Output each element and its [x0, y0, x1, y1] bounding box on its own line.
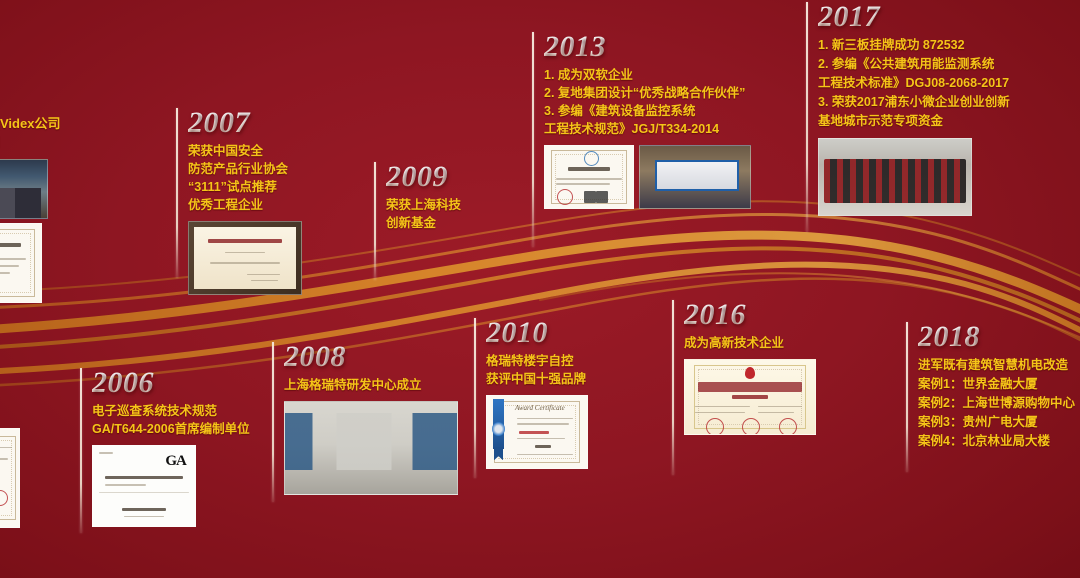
event-line: 进军既有建筑智慧机电改造 [918, 356, 1075, 375]
clipped-certificate-fragment [0, 428, 20, 528]
event-line: 1. 新三板挂牌成功 872532 [818, 36, 1010, 55]
certificate-script: Award Certificate [515, 404, 565, 412]
event-text-lines: 1. 成为双软企业 2. 复地集团设计“优秀战略合作伙伴” 3. 参编《建筑设备… [544, 66, 751, 138]
event-line: 基地城市示范专项资金 [818, 112, 1010, 131]
event-year: 03 [0, 72, 60, 110]
event-line: 2. 复地集团设计“优秀战略合作伙伴” [544, 84, 751, 102]
event-line: 案例4：北京林业局大楼 [918, 432, 1075, 451]
connector-line [272, 342, 274, 502]
event-media [284, 401, 458, 495]
award-ceremony-photo [639, 145, 751, 209]
event-line: 3. 荣获2017浦东小微企业创业创新 [818, 93, 1010, 112]
ga-standard-document: GA [92, 445, 196, 527]
connector-line [80, 368, 82, 533]
connector-line [532, 32, 534, 247]
event-line: 工程技术规范》JGJ/T334-2014 [544, 120, 751, 138]
event-year: 2007 [188, 108, 302, 138]
software-enterprise-certificate [544, 145, 634, 209]
event-line: 2. 参编《公共建筑用能监测系统 [818, 55, 1010, 74]
event-line: 工程技术标准》DGJ08-2068-2017 [818, 74, 1010, 93]
event-text-lines: 成为高新技术企业 [684, 334, 816, 352]
event-line: 1. 成为双软企业 [544, 66, 751, 84]
event-line: 案例2：上海世博源购物中心 [918, 394, 1075, 413]
event-line: GA/T644-2006首席编制单位 [92, 420, 250, 438]
event-line: 考察美国Videx公司 [0, 114, 60, 133]
event-line: 案例3：贵州广电大厦 [918, 413, 1075, 432]
event-year: 2008 [284, 342, 458, 372]
event-line: “3111”试点推荐 [188, 178, 302, 196]
connector-line [474, 318, 476, 478]
event-line: 成为高新技术企业 [684, 334, 816, 352]
event-media [684, 359, 816, 435]
event-line: 荣获上海科技 [386, 196, 461, 214]
event-media [818, 138, 1010, 216]
timeline-poster: 03 考察美国Videx公司 icon公司 [0, 0, 1080, 578]
ga-badge: GA [165, 453, 186, 470]
event-text-lines: 上海格瑞特研发中心成立 [284, 376, 458, 394]
event-text-lines: 电子巡查系统技术规范 GA/T644-2006首席编制单位 [92, 402, 250, 438]
event-line: 3. 参编《建筑设备监控系统 [544, 102, 751, 120]
partner-certificate [0, 223, 42, 303]
event-year: 2017 [818, 2, 1010, 32]
event-line: icon公司 [0, 133, 60, 152]
connector-line [906, 322, 908, 472]
expo-photo [0, 159, 48, 219]
event-line: 案例1：世界金融大厦 [918, 375, 1075, 394]
team-group-photo [818, 138, 972, 216]
connector-line [672, 300, 674, 475]
event-media [188, 221, 302, 295]
event-media [544, 145, 751, 209]
event-line: 防范产品行业协会 [188, 160, 302, 178]
event-line: 创新基金 [386, 214, 461, 232]
connector-line [176, 108, 178, 278]
event-year: 2009 [386, 162, 461, 192]
event-text-lines: 1. 新三板挂牌成功 872532 2. 参编《公共建筑用能监测系统 工程技术标… [818, 36, 1010, 131]
event-line: 格瑞特楼宇自控 [486, 352, 588, 370]
event-text-lines: 荣获上海科技 创新基金 [386, 196, 461, 232]
event-year: 2018 [918, 322, 1075, 352]
event-line: 优秀工程企业 [188, 196, 302, 214]
event-media [0, 159, 60, 219]
hi-tech-enterprise-certificate [684, 359, 816, 435]
event-year: 2010 [486, 318, 588, 348]
connector-line [806, 2, 808, 232]
event-text-lines: 荣获中国安全 防范产品行业协会 “3111”试点推荐 优秀工程企业 [188, 142, 302, 214]
event-line: 上海格瑞特研发中心成立 [284, 376, 458, 394]
excellent-engineering-plaque [188, 221, 302, 295]
connector-line [374, 162, 376, 280]
event-media: Award Certificate [486, 395, 588, 469]
event-media: GA [92, 445, 250, 527]
event-text-lines: 格瑞特楼宇自控 获评中国十强品牌 [486, 352, 588, 388]
event-text-lines: 考察美国Videx公司 icon公司 [0, 114, 60, 152]
event-line: 荣获中国安全 [188, 142, 302, 160]
rnd-corridor-photo [284, 401, 458, 495]
event-media-secondary [0, 223, 60, 303]
award-certificate: Award Certificate [486, 395, 588, 469]
event-year: 2016 [684, 300, 816, 330]
event-line: 电子巡查系统技术规范 [92, 402, 250, 420]
event-text-lines: 进军既有建筑智慧机电改造 案例1：世界金融大厦 案例2：上海世博源购物中心 案例… [918, 356, 1075, 451]
event-line: 获评中国十强品牌 [486, 370, 588, 388]
event-year: 2006 [92, 368, 250, 398]
event-year: 2013 [544, 32, 751, 62]
